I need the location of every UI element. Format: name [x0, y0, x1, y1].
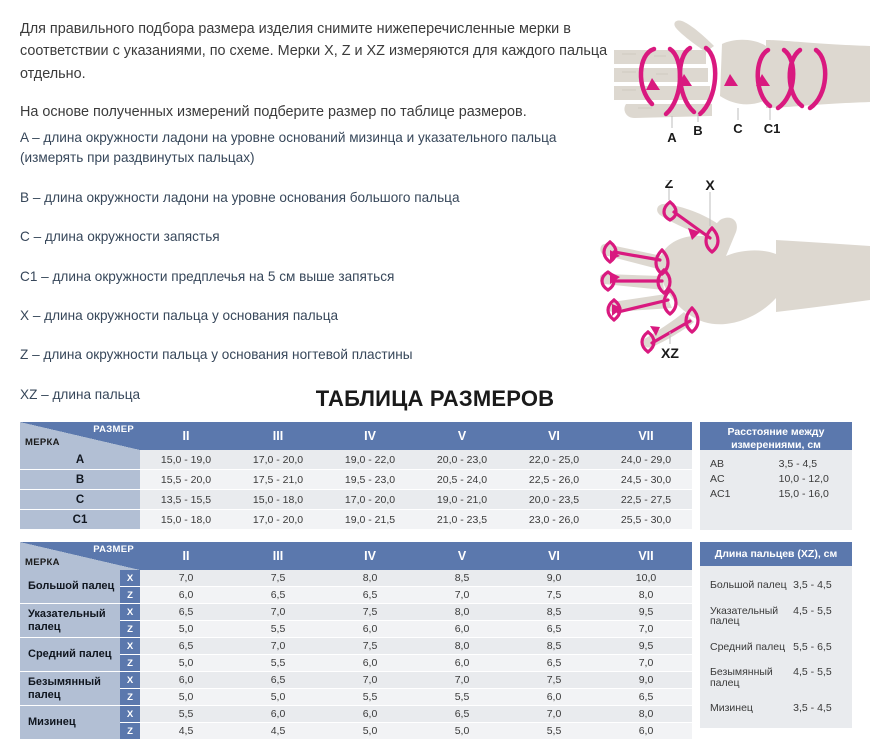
table-2-finger-label-index: Указательный палец [20, 604, 120, 638]
table-row: Большой палец X 7,0 7,5 8,0 8,5 9,0 10,0 [20, 570, 692, 587]
table-row: Безымянный палец X 6,0 6,5 7,0 7,0 7,5 9… [20, 672, 692, 689]
table-2-cell-ring-z-ii: 5,0 [140, 689, 232, 706]
table-1-cell-c-vi: 20,0 - 23,5 [508, 490, 600, 510]
table-1-cell-a-iii: 17,0 - 20,0 [232, 450, 324, 470]
table-1-cell-b-vii: 24,5 - 30,0 [600, 470, 692, 490]
table-1-cell-a-vii: 24,0 - 29,0 [600, 450, 692, 470]
table-2-cell-little-z-iii: 4,5 [232, 723, 324, 740]
table-row: Z 5,0 5,5 6,0 6,0 6,5 7,0 [20, 655, 692, 672]
table-2-cell-index-x-vii: 9,5 [600, 604, 692, 621]
table-2-x-label-thumb: X [120, 570, 140, 587]
distance-value-ab: 3,5 - 4,5 [779, 457, 842, 472]
table-2-cell-index-z-vii: 7,0 [600, 621, 692, 638]
table-2-cell-little-x-iv: 6,0 [324, 706, 416, 723]
finger-length-panel: Длина пальцев (XZ), см Большой палец 3,5… [700, 542, 852, 728]
finger-length-key-thumb: Большой палец [710, 580, 793, 591]
illustration-label-z: Z [665, 180, 674, 191]
intro-paragraph-2: На основе полученных измерений подберите… [20, 101, 620, 123]
table-2-cell-ring-z-vii: 6,5 [600, 689, 692, 706]
table-2-cell-little-x-vi: 7,0 [508, 706, 600, 723]
table-2-header-row: РАЗМЕР МЕРКА II III IV V VI VII [20, 542, 692, 570]
finger-length-panel-header: Длина пальцев (XZ), см [700, 542, 852, 566]
finger-length-panel-body: Большой палец 3,5 - 4,5 Указательный пал… [700, 566, 852, 735]
table-1-size-header-iv: IV [324, 422, 416, 450]
table-2-x-label-index: X [120, 604, 140, 621]
table-1-cell-c-iv: 17,0 - 20,0 [324, 490, 416, 510]
table-2-cell-index-z-vi: 6,5 [508, 621, 600, 638]
table-2-cell-ring-x-iii: 6,5 [232, 672, 324, 689]
table-row: Z 4,5 4,5 5,0 5,0 5,5 6,0 [20, 723, 692, 740]
table-1-size-header-iii: III [232, 422, 324, 450]
table-1-row-label-c: C [20, 490, 140, 510]
distance-panel-header: Расстояние между измерениями, см [700, 422, 852, 450]
finger-length-value-thumb: 3,5 - 4,5 [793, 580, 842, 591]
table-1-row-label-a: A [20, 450, 140, 470]
table-2-cell-little-z-v: 5,0 [416, 723, 508, 740]
table-2-finger-label-middle: Средний палец [20, 638, 120, 672]
table-2-cell-middle-x-vii: 9,5 [600, 638, 692, 655]
table-1-cell-c-v: 19,0 - 21,0 [416, 490, 508, 510]
measurement-definition-a: A – длина окружности ладони на уровне ос… [20, 128, 620, 169]
table-2-cell-middle-x-iv: 7,5 [324, 638, 416, 655]
table-2-cell-index-z-iii: 5,5 [232, 621, 324, 638]
table-2-cell-middle-z-vii: 7,0 [600, 655, 692, 672]
finger-length-value-little: 3,5 - 4,5 [793, 703, 842, 714]
table-2-size-header-iv: IV [324, 542, 416, 570]
table-2-cell-thumb-z-vii: 8,0 [600, 587, 692, 604]
table-1-cell-b-vi: 22,5 - 26,0 [508, 470, 600, 490]
table-2-cell-middle-z-vi: 6,5 [508, 655, 600, 672]
table-2-size-header-ii: II [140, 542, 232, 570]
table-2-size-header-v: V [416, 542, 508, 570]
table-2-cell-index-x-iii: 7,0 [232, 604, 324, 621]
illustration-label-xz: XZ [661, 345, 679, 361]
illustration-label-b: B [693, 123, 702, 138]
table-1-cell-c1-vi: 23,0 - 26,0 [508, 510, 600, 530]
table-row: B 15,5 - 20,0 17,5 - 21,0 19,5 - 23,0 20… [20, 470, 692, 490]
table-row: C 13,5 - 15,5 15,0 - 18,0 17,0 - 20,0 19… [20, 490, 692, 510]
size-table-2: РАЗМЕР МЕРКА II III IV V VI VII Большой … [20, 542, 692, 740]
table-1-row-label-b: B [20, 470, 140, 490]
finger-length-value-middle: 5,5 - 6,5 [793, 642, 842, 653]
hand-diagram-xz-svg: Z X XZ [600, 180, 870, 365]
distance-value-ac: 10,0 - 12,0 [779, 472, 842, 487]
finger-length-row-index: Указательный палец 4,5 - 5,5 [710, 606, 842, 627]
table-2-cell-middle-z-iii: 5,5 [232, 655, 324, 672]
table-2-cell-index-z-ii: 5,0 [140, 621, 232, 638]
table-row: Z 5,0 5,0 5,5 5,5 6,0 6,5 [20, 689, 692, 706]
table-2-finger-label-little: Мизинец [20, 706, 120, 740]
hand-diagram-abc-svg: A B C C1 [614, 4, 870, 149]
table-1-cell-c-vii: 22,5 - 27,5 [600, 490, 692, 510]
measurement-definitions-list: A – длина окружности ладони на уровне ос… [20, 128, 620, 424]
table-1-cell-c1-ii: 15,0 - 18,0 [140, 510, 232, 530]
corner-merka-label-2: МЕРКА [25, 557, 60, 568]
table-2-cell-little-z-iv: 5,0 [324, 723, 416, 740]
table-2-z-label-little: Z [120, 723, 140, 740]
table-2-cell-little-z-ii: 4,5 [140, 723, 232, 740]
table-1-cell-c1-vii: 25,5 - 30,0 [600, 510, 692, 530]
distance-row-ac1: AC1 15,0 - 16,0 [710, 487, 842, 502]
corner-merka-label: МЕРКА [25, 437, 60, 448]
table-2-cell-middle-x-vi: 8,5 [508, 638, 600, 655]
table-2-cell-ring-x-ii: 6,0 [140, 672, 232, 689]
table-1-header-row: РАЗМЕР МЕРКА II III IV V VI VII [20, 422, 692, 450]
table-2-cell-middle-z-ii: 5,0 [140, 655, 232, 672]
table-2-size-header-vi: VI [508, 542, 600, 570]
measurement-definition-x: X – длина окружности пальца у основания … [20, 306, 620, 326]
table-1-size-header-vi: VI [508, 422, 600, 450]
finger-length-key-index: Указательный палец [710, 606, 793, 627]
finger-length-value-index: 4,5 - 5,5 [793, 606, 842, 627]
table-2-cell-ring-z-vi: 6,0 [508, 689, 600, 706]
table-2-cell-index-x-ii: 6,5 [140, 604, 232, 621]
table-2-finger-label-ring: Безымянный палец [20, 672, 120, 706]
intro-paragraph-1: Для правильного подбора размера изделия … [20, 18, 620, 85]
table-2-cell-ring-x-iv: 7,0 [324, 672, 416, 689]
distance-key-ac: AC [710, 472, 779, 487]
table-2-cell-thumb-z-ii: 6,0 [140, 587, 232, 604]
table-1-cell-c-iii: 15,0 - 18,0 [232, 490, 324, 510]
table-2-cell-thumb-z-v: 7,0 [416, 587, 508, 604]
distance-panel-body: AB 3,5 - 4,5 AC 10,0 - 12,0 AC1 15,0 - 1… [700, 450, 852, 509]
table-row: Мизинец X 5,5 6,0 6,0 6,5 7,0 8,0 [20, 706, 692, 723]
finger-length-key-middle: Средний палец [710, 642, 793, 653]
measurement-definition-c: C – длина окружности запястья [20, 227, 620, 247]
table-2-corner-header: РАЗМЕР МЕРКА [20, 542, 140, 570]
measurement-definition-c1: C1 – длина окружности предплечья на 5 см… [20, 267, 620, 287]
hand-shape-group-2 [600, 204, 870, 348]
measurement-definition-z: Z – длина окружности пальца у основания … [20, 345, 620, 365]
table-2-cell-little-x-v: 6,5 [416, 706, 508, 723]
illustration-label-c1: C1 [764, 121, 781, 136]
table-row: Z 6,0 6,5 6,5 7,0 7,5 8,0 [20, 587, 692, 604]
table-2-cell-ring-z-iii: 5,0 [232, 689, 324, 706]
table-1-corner-header: РАЗМЕР МЕРКА [20, 422, 140, 450]
table-2-cell-middle-z-iv: 6,0 [324, 655, 416, 672]
corner-size-label: РАЗМЕР [93, 424, 134, 435]
table-2-cell-index-x-vi: 8,5 [508, 604, 600, 621]
table-2-cell-thumb-x-ii: 7,0 [140, 570, 232, 587]
table-2-cell-thumb-x-vii: 10,0 [600, 570, 692, 587]
table-2-size-header-vii: VII [600, 542, 692, 570]
table-1-cell-b-ii: 15,5 - 20,0 [140, 470, 232, 490]
distance-value-ac1: 15,0 - 16,0 [779, 487, 842, 502]
table-2-finger-label-thumb: Большой палец [20, 570, 120, 604]
table-2-cell-ring-x-v: 7,0 [416, 672, 508, 689]
illustration-label-a: A [667, 130, 677, 145]
finger-length-row-middle: Средний палец 5,5 - 6,5 [710, 642, 842, 653]
table-2-cell-thumb-x-iv: 8,0 [324, 570, 416, 587]
table-2-cell-little-x-vii: 8,0 [600, 706, 692, 723]
table-2-z-label-ring: Z [120, 689, 140, 706]
table-row: C1 15,0 - 18,0 17,0 - 20,0 19,0 - 21,5 2… [20, 510, 692, 530]
distance-row-ab: AB 3,5 - 4,5 [710, 457, 842, 472]
finger-length-row-little: Мизинец 3,5 - 4,5 [710, 703, 842, 714]
table-2-cell-index-z-v: 6,0 [416, 621, 508, 638]
table-2-cell-middle-x-ii: 6,5 [140, 638, 232, 655]
table-1-cell-c-ii: 13,5 - 15,5 [140, 490, 232, 510]
table-1-size-header-vii: VII [600, 422, 692, 450]
illustration-label-c: C [733, 121, 743, 136]
table-2-cell-thumb-z-iii: 6,5 [232, 587, 324, 604]
table-2-cell-ring-z-v: 5,5 [416, 689, 508, 706]
table-row: Средний палец X 6,5 7,0 7,5 8,0 8,5 9,5 [20, 638, 692, 655]
table-2-cell-little-z-vii: 6,0 [600, 723, 692, 740]
distance-key-ab: AB [710, 457, 779, 472]
table-2-z-label-index: Z [120, 621, 140, 638]
table-1-size-header-v: V [416, 422, 508, 450]
measurement-definition-b: B – длина окружности ладони на уровне ос… [20, 188, 620, 208]
distance-row-ac: AC 10,0 - 12,0 [710, 472, 842, 487]
table-2-z-label-thumb: Z [120, 587, 140, 604]
table-2-cell-middle-x-iii: 7,0 [232, 638, 324, 655]
size-guide-page: Для правильного подбора размера изделия … [0, 0, 870, 752]
table-1-cell-c1-v: 21,0 - 23,5 [416, 510, 508, 530]
finger-length-row-thumb: Большой палец 3,5 - 4,5 [710, 580, 842, 591]
table-row: A 15,0 - 19,0 17,0 - 20,0 19,0 - 22,0 20… [20, 450, 692, 470]
table-2-cell-thumb-x-iii: 7,5 [232, 570, 324, 587]
illustration-label-x: X [705, 180, 715, 193]
intro-text-block: Для правильного подбора размера изделия … [20, 18, 620, 139]
finger-length-key-little: Мизинец [710, 703, 793, 714]
table-2-x-label-ring: X [120, 672, 140, 689]
size-table-1: РАЗМЕР МЕРКА II III IV V VI VII A 15,0 -… [20, 422, 692, 530]
table-1-size-header-ii: II [140, 422, 232, 450]
table-2-cell-ring-x-vi: 7,5 [508, 672, 600, 689]
table-2-cell-index-x-v: 8,0 [416, 604, 508, 621]
table-2-cell-middle-x-v: 8,0 [416, 638, 508, 655]
table-1-cell-b-iii: 17,5 - 21,0 [232, 470, 324, 490]
table-2-x-label-middle: X [120, 638, 140, 655]
table-2-cell-index-x-iv: 7,5 [324, 604, 416, 621]
table-row: Z 5,0 5,5 6,0 6,0 6,5 7,0 [20, 621, 692, 638]
table-1-row-label-c1: C1 [20, 510, 140, 530]
table-1-cell-a-vi: 22,0 - 25,0 [508, 450, 600, 470]
distance-key-ac1: AC1 [710, 487, 779, 502]
hand-diagram-abc-illustration: A B C C1 [614, 4, 870, 149]
table-2-cell-little-x-iii: 6,0 [232, 706, 324, 723]
finger-length-row-ring: Безымянный палец 4,5 - 5,5 [710, 667, 842, 688]
corner-size-label-2: РАЗМЕР [93, 544, 134, 555]
table-2-cell-middle-z-v: 6,0 [416, 655, 508, 672]
table-2-cell-ring-z-iv: 5,5 [324, 689, 416, 706]
table-2-cell-thumb-z-iv: 6,5 [324, 587, 416, 604]
table-2-z-label-middle: Z [120, 655, 140, 672]
table-1-cell-a-iv: 19,0 - 22,0 [324, 450, 416, 470]
table-2-cell-thumb-z-vi: 7,5 [508, 587, 600, 604]
table-1-cell-a-ii: 15,0 - 19,0 [140, 450, 232, 470]
table-1-cell-b-v: 20,5 - 24,0 [416, 470, 508, 490]
table-1-cell-a-v: 20,0 - 23,0 [416, 450, 508, 470]
distance-between-measurements-panel: Расстояние между измерениями, см AB 3,5 … [700, 422, 852, 530]
table-1-cell-b-iv: 19,5 - 23,0 [324, 470, 416, 490]
table-row: Указательный палец X 6,5 7,0 7,5 8,0 8,5… [20, 604, 692, 621]
table-2-cell-little-z-vi: 5,5 [508, 723, 600, 740]
table-1-cell-c1-iii: 17,0 - 20,0 [232, 510, 324, 530]
table-1-cell-c1-iv: 19,0 - 21,5 [324, 510, 416, 530]
table-2-cell-index-z-iv: 6,0 [324, 621, 416, 638]
table-2-cell-little-x-ii: 5,5 [140, 706, 232, 723]
hand-diagram-xz-illustration: Z X XZ [600, 180, 870, 365]
table-2-cell-thumb-x-vi: 9,0 [508, 570, 600, 587]
size-table-title: ТАБЛИЦА РАЗМЕРОВ [0, 386, 870, 412]
finger-length-key-ring: Безымянный палец [710, 667, 793, 688]
table-2-cell-ring-x-vii: 9,0 [600, 672, 692, 689]
table-2-x-label-little: X [120, 706, 140, 723]
table-2-size-header-iii: III [232, 542, 324, 570]
table-2-cell-thumb-x-v: 8,5 [416, 570, 508, 587]
finger-length-value-ring: 4,5 - 5,5 [793, 667, 842, 688]
